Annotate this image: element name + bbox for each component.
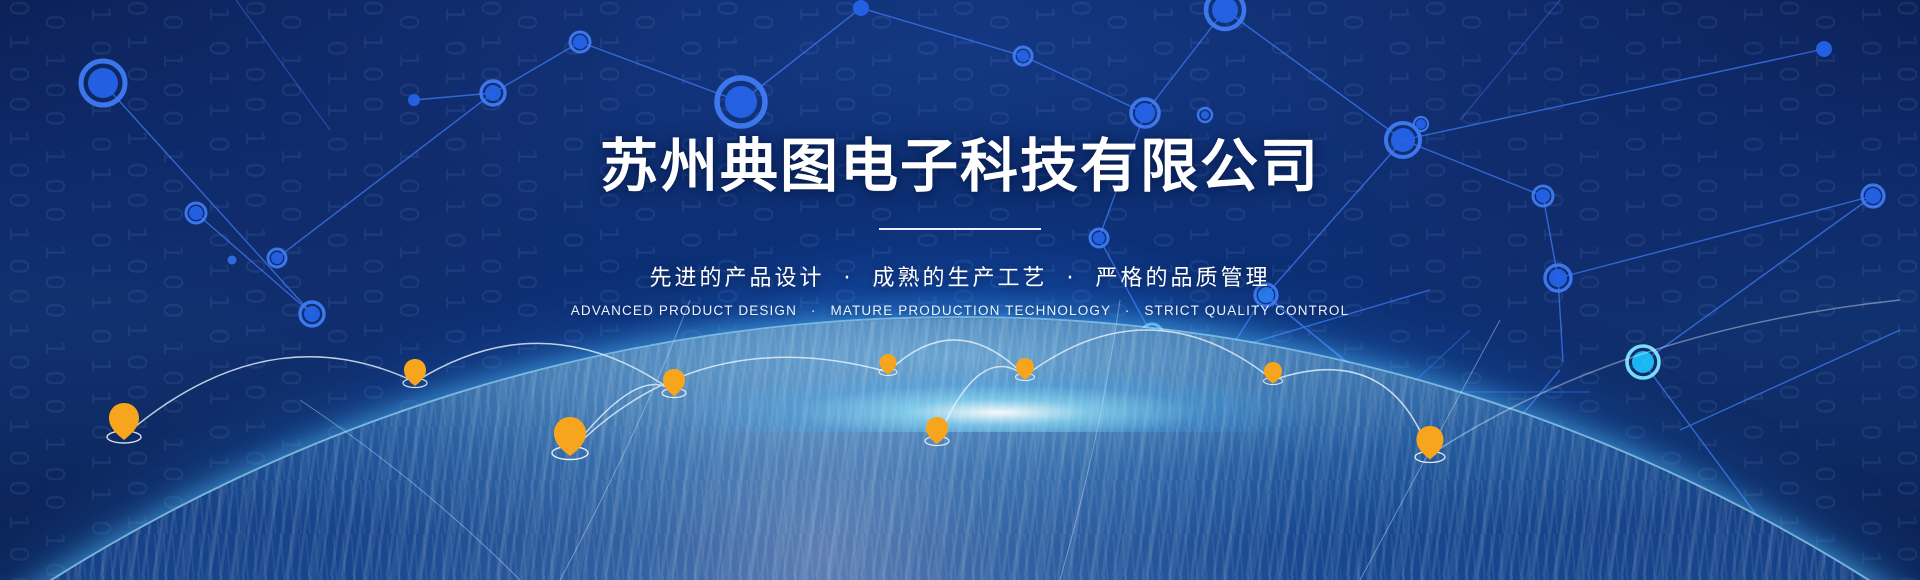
subtitle-cn-part-2: 成熟的生产工艺 [872,266,1047,291]
subtitle-cn-part-3: 严格的品质管理 [1096,266,1271,291]
subtitle-separator: · [1058,266,1086,291]
subtitle-en-part-3: STRICT QUALITY CONTROL [1144,303,1349,318]
title-divider [879,228,1041,230]
company-title: 苏州典图电子科技有限公司 [0,0,1920,200]
hero-text-block: 苏州典图电子科技有限公司 先进的产品设计 · 成熟的生产工艺 · 严格的品质管理… [0,0,1920,318]
subtitle-chinese: 先进的产品设计 · 成熟的生产工艺 · 严格的品质管理 [0,260,1920,292]
subtitle-en-part-1: ADVANCED PRODUCT DESIGN [571,303,797,318]
subtitle-english: ADVANCED PRODUCT DESIGN · MATURE PRODUCT… [0,303,1920,318]
company-hero-banner: 1 0 1 0 1 0 0 1 0 [0,0,1920,580]
earth-landmass [0,318,1920,580]
earth-sphere [0,318,1920,580]
subtitle-cn-part-1: 先进的产品设计 [649,266,824,291]
subtitle-separator: · [802,303,826,318]
subtitle-en-part-2: MATURE PRODUCTION TECHNOLOGY [830,303,1110,318]
subtitle-separator: · [834,266,862,291]
subtitle-separator: · [1116,303,1140,318]
